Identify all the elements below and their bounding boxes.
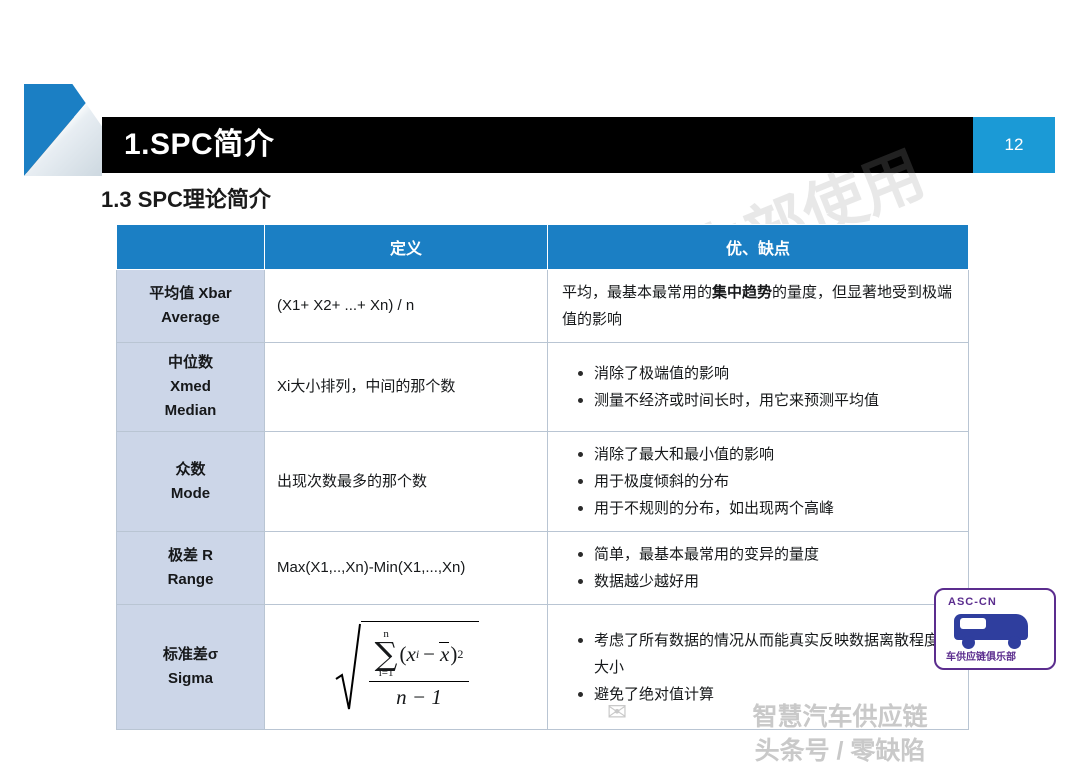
formula-denominator: n − 1: [396, 682, 442, 710]
row-name-line-1: 众数: [121, 458, 260, 482]
page-title: 1.SPC简介: [124, 124, 274, 166]
radical-sign-icon: [335, 621, 361, 713]
row-name-line-3: Median: [121, 399, 260, 423]
row-pros-median: 消除了极端值的影响 测量不经济或时间长时，用它来预测平均值: [548, 343, 969, 432]
table-row: 众数 Mode 出现次数最多的那个数 消除了最大和最小值的影响 用于极度倾斜的分…: [117, 432, 969, 532]
row-definition-median: Xi大小排列，中间的那个数: [265, 343, 548, 432]
row-definition-sigma: n ∑ i=1 ( xi − x )2: [265, 605, 548, 730]
list-item: 用于不规则的分布，如出现两个高峰: [578, 495, 954, 522]
sigma-formula: n ∑ i=1 ( xi − x )2: [277, 615, 535, 719]
section-subtitle: 1.3 SPC理论简介: [101, 182, 271, 214]
page-number-badge: 12: [973, 117, 1055, 173]
pros-text-bold: 集中趋势: [712, 284, 772, 301]
list-item: 测量不经济或时间长时，用它来预测平均值: [578, 387, 954, 414]
table-row: 极差 R Range Max(X1,..,Xn)-Min(X1,...,Xn) …: [117, 532, 969, 605]
sum-lower-limit: i=1: [379, 668, 394, 679]
row-name-line-1: 中位数: [121, 351, 260, 375]
logo-tag: ASC-CN: [948, 596, 997, 608]
row-pros-range: 简单，最基本最常用的变异的量度 数据越少越好用: [548, 532, 969, 605]
row-definition-mode: 出现次数最多的那个数: [265, 432, 548, 532]
table-row: 平均值 Xbar Average (X1+ X2+ ...+ Xn) / n 平…: [117, 270, 969, 343]
list-item: 用于极度倾斜的分布: [578, 468, 954, 495]
pros-text-part-1: 平均，最基本最常用的: [562, 284, 712, 301]
row-name-mode: 众数 Mode: [117, 432, 265, 532]
row-name-range: 极差 R Range: [117, 532, 265, 605]
row-pros-average: 平均，最基本最常用的集中趋势的量度，但显著地受到极端值的影响: [548, 270, 969, 343]
row-name-sigma: 标准差σ Sigma: [117, 605, 265, 730]
car-window-icon: [960, 618, 986, 629]
formula-x: x: [407, 641, 416, 667]
list-item: 数据越少越好用: [578, 568, 954, 595]
row-definition-average: (X1+ X2+ ...+ Xn) / n: [265, 270, 548, 343]
wechat-icon: ✉: [607, 698, 637, 724]
club-logo: ASC-CN 车供应链俱乐部: [934, 588, 1056, 670]
row-name-average: 平均值 Xbar Average: [117, 270, 265, 343]
logo-caption: 车供应链俱乐部: [946, 648, 1016, 663]
table-header-pros-cons: 优、缺点: [548, 225, 969, 270]
table-header-definition: 定义: [265, 225, 548, 270]
row-name-line-2: Mode: [121, 482, 260, 506]
list-item: 消除了极端值的影响: [578, 360, 954, 387]
list-item: 消除了最大和最小值的影响: [578, 441, 954, 468]
row-name-median: 中位数 Xmed Median: [117, 343, 265, 432]
row-definition-range: Max(X1,..,Xn)-Min(X1,...,Xn): [265, 532, 548, 605]
row-name-line-2: Xmed: [121, 375, 260, 399]
summation-icon: n ∑ i=1: [375, 629, 398, 679]
formula-minus: −: [419, 641, 439, 667]
list-item: 简单，最基本最常用的变异的量度: [578, 541, 954, 568]
row-name-line-1: 极差 R: [121, 544, 260, 568]
row-name-line-1: 标准差σ: [121, 643, 260, 667]
table-header-blank: [117, 225, 265, 270]
folded-corner-decoration: [24, 84, 102, 176]
row-pros-mode: 消除了最大和最小值的影响 用于极度倾斜的分布 用于不规则的分布，如出现两个高峰: [548, 432, 969, 532]
statistics-table: 定义 优、缺点 平均值 Xbar Average (X1+ X2+ ...+ X…: [116, 224, 968, 730]
slide: 1.SPC简介 12 1.3 SPC理论简介 只在内部使用 只在内部使用 定义 …: [0, 0, 1080, 763]
formula-xbar: x: [439, 641, 450, 667]
list-item: 考虑了所有数据的情况从而能真实反映数据离散程度的大小: [578, 627, 954, 681]
table-row: 中位数 Xmed Median Xi大小排列，中间的那个数 消除了极端值的影响 …: [117, 343, 969, 432]
row-name-line-1: 平均值 Xbar: [121, 282, 260, 306]
table-header-row: 定义 优、缺点: [117, 225, 969, 270]
row-name-line-2: Sigma: [121, 667, 260, 691]
row-name-line-2: Range: [121, 568, 260, 592]
table-row: 标准差σ Sigma: [117, 605, 969, 730]
row-name-line-2: Average: [121, 306, 260, 330]
formula-power: 2: [457, 641, 463, 667]
